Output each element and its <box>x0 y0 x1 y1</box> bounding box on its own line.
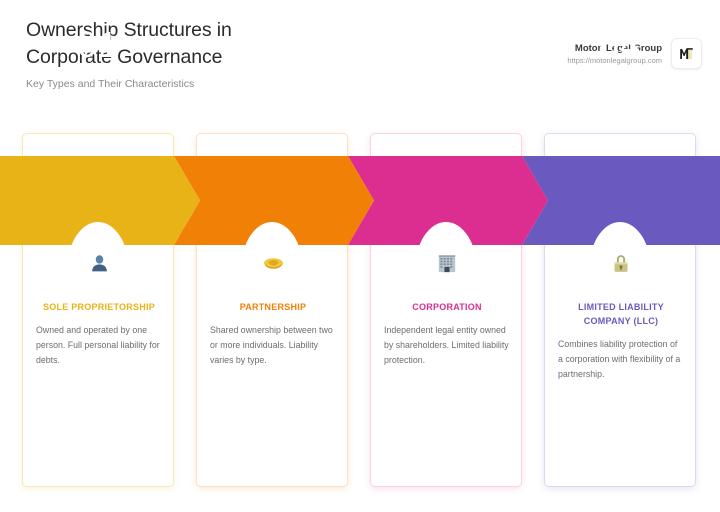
card-title: CORPORATION <box>384 300 510 314</box>
card-title: LIMITED LIABILITY COMPANY (LLC) <box>558 300 684 328</box>
person-icon <box>36 246 162 280</box>
infographic-page: Ownership Structures in Corporate Govern… <box>0 0 720 512</box>
card-title: PARTNERSHIP <box>210 300 336 314</box>
card-description: Independent legal entity owned by shareh… <box>384 323 510 368</box>
lock-icon-glyph <box>612 253 630 274</box>
card-description: Owned and operated by one person. Full p… <box>36 323 162 368</box>
card-title: SOLE PROPRIETORSHIP <box>36 300 162 314</box>
cards-container: SOLE PROPRIETORSHIP Owned and operated b… <box>0 0 720 512</box>
lock-icon <box>558 246 684 280</box>
card-body: CORPORATION Independent legal entity own… <box>371 246 523 368</box>
handshake-icon <box>210 246 336 280</box>
card-body: LIMITED LIABILITY COMPANY (LLC) Combines… <box>545 246 697 382</box>
card-body: PARTNERSHIP Shared ownership between two… <box>197 246 349 368</box>
handshake-icon-glyph <box>262 254 285 273</box>
office-building-icon <box>384 246 510 280</box>
card-body: SOLE PROPRIETORSHIP Owned and operated b… <box>23 246 175 368</box>
office-building-icon-glyph <box>437 253 457 274</box>
card-description: Combines liability protection of a corpo… <box>558 337 684 382</box>
person-icon-glyph <box>89 253 110 274</box>
card-description: Shared ownership between two or more ind… <box>210 323 336 368</box>
